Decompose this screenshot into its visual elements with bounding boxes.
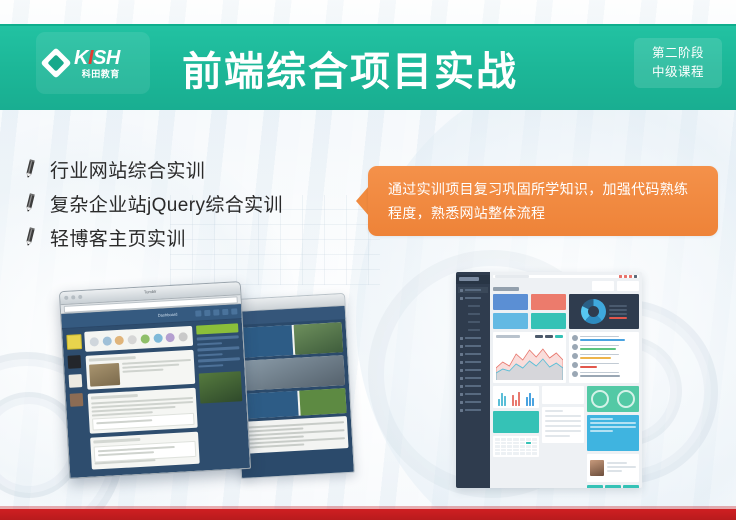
showcase-area: Tumblr Dashboard	[0, 0, 736, 520]
user-progress-list	[569, 332, 639, 383]
post-card	[86, 350, 196, 390]
topbar-icons[interactable]	[619, 275, 637, 278]
sidebar-item[interactable]	[458, 351, 488, 357]
sidebar-subitem[interactable]	[458, 319, 488, 325]
sidebar-item[interactable]	[458, 391, 488, 397]
link-list	[243, 416, 349, 454]
area-chart	[496, 340, 563, 380]
dashboard-bottom-row	[493, 386, 639, 488]
calendar-header	[493, 411, 539, 433]
dashboard-body	[62, 319, 250, 475]
todo-list-card[interactable]	[542, 407, 584, 443]
sidebar-item[interactable]	[458, 375, 488, 381]
browser-viewport: Dashboard	[61, 304, 250, 478]
avatar	[590, 460, 604, 476]
list-item	[572, 344, 636, 350]
avatar	[70, 393, 84, 407]
sidebar-subitem[interactable]	[458, 327, 488, 333]
sidebar-item[interactable]	[458, 287, 488, 293]
sidebar-subitem[interactable]	[458, 311, 488, 317]
bar-chart-card	[493, 386, 539, 408]
mini-stat-cards	[592, 281, 639, 291]
search-input[interactable]	[495, 275, 529, 278]
donut-chart	[581, 299, 606, 324]
sidebar-photo	[199, 371, 243, 403]
avatar	[69, 374, 83, 388]
kpi-card[interactable]	[493, 294, 528, 310]
follow-button[interactable]	[196, 323, 238, 334]
page-title	[493, 287, 519, 291]
sidebar-item[interactable]	[458, 359, 488, 365]
dashboard-logo	[456, 275, 490, 284]
sidebar-item[interactable]	[458, 399, 488, 405]
kpi-card[interactable]	[493, 313, 528, 329]
post-card	[238, 322, 344, 358]
slide-canvas: KISH 科田教育 前端综合项目实战 第二阶段 中级课程	[0, 0, 736, 520]
post-card	[88, 388, 198, 434]
avatar	[68, 355, 82, 369]
post-card	[90, 432, 200, 470]
sidebar-subitem[interactable]	[458, 303, 488, 309]
area-chart-card	[493, 332, 566, 383]
avatar	[66, 334, 82, 350]
admin-dashboard-screenshot[interactable]	[456, 272, 642, 488]
list-item	[572, 371, 636, 377]
dashboard-topbar	[493, 275, 639, 278]
dashboard-content	[490, 272, 642, 488]
post-card	[240, 355, 346, 391]
promo-card	[587, 415, 639, 451]
action-buttons[interactable]	[587, 485, 639, 488]
sidebar-item[interactable]	[458, 383, 488, 389]
post-feed	[84, 326, 200, 470]
browser-viewport	[233, 306, 354, 479]
sidebar-item[interactable]	[458, 407, 488, 413]
dashboard-nav-label: Dashboard	[158, 312, 178, 318]
profile-card	[587, 454, 639, 482]
dashboard-page-header	[493, 281, 639, 291]
kpi-card[interactable]	[531, 294, 566, 310]
list-item	[572, 335, 636, 341]
sidebar-item[interactable]	[458, 295, 488, 301]
post-type-toolbar[interactable]	[84, 326, 193, 352]
sidebar-item[interactable]	[458, 367, 488, 373]
kpi-card[interactable]	[531, 313, 566, 329]
dashboard-middle-row	[493, 332, 639, 383]
list-item	[572, 362, 636, 368]
sidebar-item[interactable]	[458, 343, 488, 349]
chart-legend	[609, 305, 627, 319]
kpi-cards	[493, 294, 639, 329]
donut-chart-card	[569, 294, 639, 329]
progress-rings-card	[587, 386, 639, 412]
dashboard-sidebar	[196, 323, 246, 463]
post-column	[238, 322, 349, 457]
list-item	[572, 353, 636, 359]
navbar-icons[interactable]	[195, 308, 237, 316]
post-card	[241, 388, 346, 419]
dashboard-sidebar	[456, 272, 490, 488]
calendar-grid[interactable]	[493, 436, 539, 457]
stat-card	[542, 386, 584, 404]
tumblr-dashboard-screenshot[interactable]: Tumblr Dashboard	[59, 281, 251, 479]
footer-band	[0, 509, 736, 520]
sidebar-item[interactable]	[458, 335, 488, 341]
